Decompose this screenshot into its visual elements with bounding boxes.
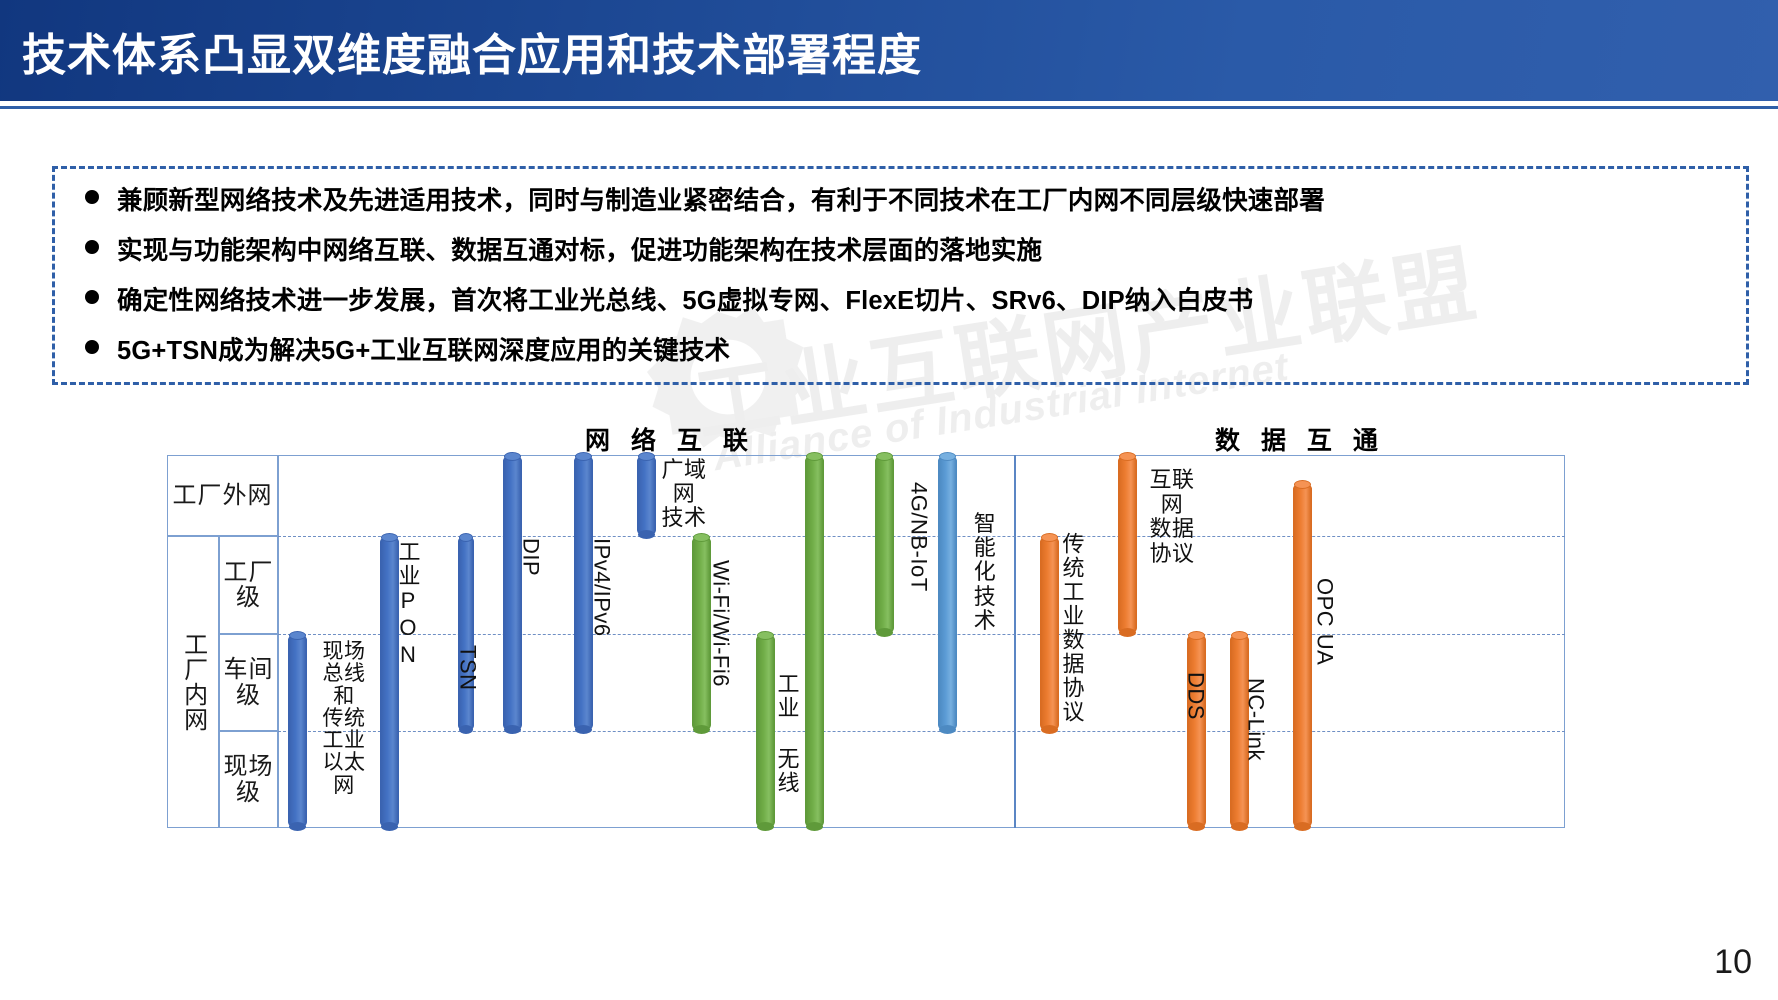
bar-1	[288, 634, 307, 828]
bullet-dot-icon	[85, 340, 99, 354]
axis-cell-field-level: 现场级	[219, 731, 278, 828]
bar-10	[875, 455, 894, 634]
axis-cell-factory-level: 工厂级	[219, 536, 278, 634]
bar-cap-top	[575, 452, 592, 461]
bar-label-16: OPC UA	[1313, 578, 1335, 665]
bar-cap-bottom	[806, 822, 823, 831]
bar-label-13: 互联 网 数据 协议	[1141, 468, 1203, 567]
list-item: 确定性网络技术进一步发展，首次将工业光总线、5G虚拟专网、FlexE切片、SRv…	[55, 287, 1746, 337]
section-title-data: 数 据 互 通	[1215, 421, 1385, 457]
bar-cap-bottom	[459, 725, 473, 734]
bar-14	[1187, 634, 1206, 828]
bar-cap-bottom	[381, 822, 398, 831]
bar-label-2: 工业PON	[396, 540, 418, 669]
bullet-dot-icon	[85, 240, 99, 254]
technology-deployment-chart: 网 络 互 联 数 据 互 通 工厂外网 工厂内网 工厂级 车间级 现场级 现场…	[0, 0, 1778, 1000]
bar-label-1: 现场总线 和 传统工业 以太网	[315, 641, 373, 797]
bullet-text: 兼顾新型网络技术及先进适用技术，同时与制造业紧密结合，有利于不同技术在工厂内网不…	[117, 187, 1325, 215]
bar-4	[503, 455, 522, 731]
bar-3	[458, 536, 474, 731]
page-number: 10	[1714, 943, 1752, 982]
bar-cap-top	[459, 533, 473, 542]
slide-title-bar: 技术体系凸显双维度融合应用和技术部署程度	[0, 0, 1778, 101]
bar-cap-top	[638, 452, 655, 461]
bar-label-11: 智能 化技 术	[963, 512, 1007, 633]
bullet-list-box: 兼顾新型网络技术及先进适用技术，同时与制造业紧密结合，有利于不同技术在工厂内网不…	[52, 166, 1749, 385]
axis-label-text: 工厂级	[220, 560, 277, 610]
bar-cap-top	[806, 452, 823, 461]
bar-cap-top	[939, 452, 956, 461]
axis-label-text: 车间级	[220, 657, 277, 707]
bar-label-10: 4G/NB-IoT	[907, 482, 929, 592]
list-item: 5G+TSN成为解决5G+工业互联网深度应用的关键技术	[55, 337, 1746, 387]
bar-8	[756, 634, 775, 828]
bar-cap-top	[1188, 631, 1205, 640]
list-item: 兼顾新型网络技术及先进适用技术，同时与制造业紧密结合，有利于不同技术在工厂内网不…	[55, 187, 1746, 237]
bar-cap-bottom	[504, 725, 521, 734]
axis-label-text: 现场级	[220, 754, 277, 804]
list-item: 实现与功能架构中网络互联、数据互通对标，促进功能架构在技术层面的落地实施	[55, 237, 1746, 287]
bar-cap-bottom	[1041, 725, 1058, 734]
bar-cap-bottom	[575, 725, 592, 734]
axis-label-text: 工厂内网	[180, 632, 205, 732]
bar-cap-top	[289, 631, 306, 640]
bar-12	[1040, 536, 1059, 731]
bar-11	[938, 455, 957, 731]
bar-cap-top	[1119, 452, 1136, 461]
bar-cap-bottom	[876, 628, 893, 637]
bar-cap-bottom	[638, 530, 655, 539]
bar-label-15: NC-Link	[1244, 678, 1266, 761]
bar-16	[1293, 483, 1312, 828]
bar-cap-bottom	[1231, 822, 1248, 831]
section-title-network: 网 络 互 联	[585, 421, 755, 457]
bar-cap-bottom	[1188, 822, 1205, 831]
bar-cap-bottom	[693, 725, 710, 734]
bar-label-3: TSN	[456, 645, 478, 691]
bar-cap-top	[1231, 631, 1248, 640]
bullet-dot-icon	[85, 190, 99, 204]
bar-cap-top	[876, 452, 893, 461]
bar-label-8: 工业 无线	[775, 672, 797, 795]
bar-cap-top	[757, 631, 774, 640]
title-accent-rule	[0, 106, 1778, 109]
bar-9	[805, 455, 824, 828]
bullet-dot-icon	[85, 290, 99, 304]
axis-label-text: 工厂外网	[173, 483, 273, 508]
bar-label-4: DIP	[519, 538, 541, 576]
bar-cap-top	[1041, 533, 1058, 542]
bar-cap-top	[1294, 480, 1311, 489]
bar-label-5: IPv4/IPv6	[590, 538, 612, 637]
bar-cap-top	[693, 533, 710, 542]
bar-label-12: 传统工业数据协议	[1060, 532, 1082, 724]
page-title: 技术体系凸显双维度融合应用和技术部署程度	[22, 19, 922, 83]
axis-cell-factory-external: 工厂外网	[167, 455, 278, 536]
bullet-text: 5G+TSN成为解决5G+工业互联网深度应用的关键技术	[117, 337, 730, 365]
axis-cell-workshop-level: 车间级	[219, 634, 278, 731]
bar-cap-top	[504, 452, 521, 461]
axis-cell-factory-internal: 工厂内网	[167, 536, 219, 828]
bar-13	[1118, 455, 1137, 634]
bar-6	[637, 455, 656, 536]
bar-cap-bottom	[289, 822, 306, 831]
bar-label-7: Wi-Fi/Wi-Fi6	[709, 560, 731, 687]
bar-cap-bottom	[1294, 822, 1311, 831]
bar-cap-bottom	[1119, 628, 1136, 637]
bullet-text: 确定性网络技术进一步发展，首次将工业光总线、5G虚拟专网、FlexE切片、SRv…	[117, 287, 1253, 315]
bar-label-6: 广域 网 技术	[655, 458, 713, 531]
bar-label-14: DDS	[1184, 672, 1206, 720]
bullet-text: 实现与功能架构中网络互联、数据互通对标，促进功能架构在技术层面的落地实施	[117, 237, 1042, 265]
bar-cap-bottom	[939, 725, 956, 734]
bar-cap-bottom	[757, 822, 774, 831]
section-divider	[1014, 455, 1016, 828]
